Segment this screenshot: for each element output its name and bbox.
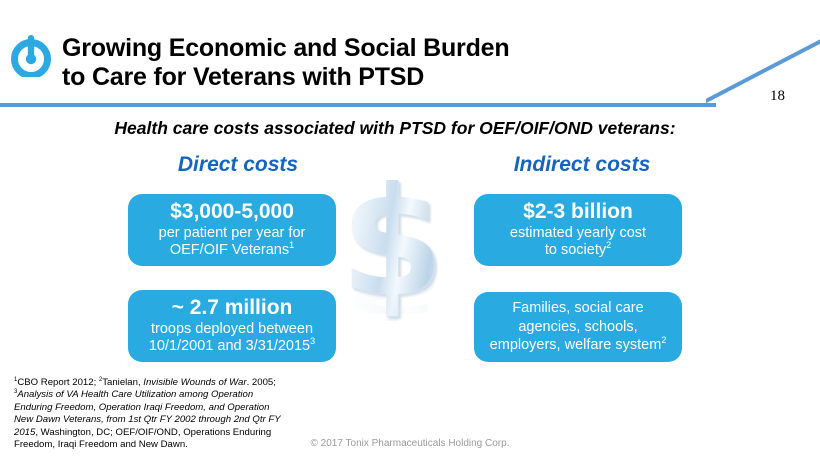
footnote-title-italic: Invisible Wounds of War bbox=[143, 377, 246, 388]
callout-line-2: to society2 bbox=[545, 242, 611, 260]
callout-line-1: troops deployed between bbox=[151, 321, 313, 339]
column-heading-direct-costs: Direct costs bbox=[118, 153, 358, 177]
slide-canvas: Growing Economic and Social Burden to Ca… bbox=[0, 0, 820, 458]
footnote-line-1: 1CBO Report 2012; 2Tanielan, Invisible W… bbox=[14, 377, 310, 389]
callout-line-2: 10/1/2001 and 3/31/20153 bbox=[149, 338, 315, 356]
callout-line-1: estimated yearly cost bbox=[510, 225, 646, 243]
copyright-notice: © 2017 Tonix Pharmaceuticals Holding Cor… bbox=[0, 438, 820, 449]
callout-line-1: Families, social care bbox=[512, 299, 643, 318]
callout-headline: ~ 2.7 million bbox=[172, 296, 293, 321]
footnote-text-8: , Washington, DC; OEF/OIF/OND, Operation… bbox=[35, 427, 271, 438]
footnote-text-2: Tanielan, bbox=[102, 377, 143, 388]
page-title: Growing Economic and Social Burden to Ca… bbox=[62, 34, 622, 91]
footnote-text-3: . 2005; bbox=[247, 377, 276, 388]
footnote-ref: 1 bbox=[289, 241, 294, 251]
callout-line-2: agencies, schools, bbox=[518, 318, 637, 337]
callout-line-3-text: employers, welfare system bbox=[490, 337, 662, 353]
callout-headline: $3,000-5,000 bbox=[170, 200, 294, 225]
callout-box-direct-cost-per-patient: $3,000-5,000 per patient per year for OE… bbox=[128, 194, 336, 266]
callout-box-troops-deployed: ~ 2.7 million troops deployed between 10… bbox=[128, 290, 336, 362]
callout-line-2-text: OEF/OIF Veterans bbox=[170, 242, 289, 258]
footnote-text-4: Analysis of VA Health Care Utilization a… bbox=[17, 389, 253, 400]
page-number: 18 bbox=[770, 88, 810, 105]
callout-line-2-text: to society bbox=[545, 242, 606, 258]
slide-subtitle: Health care costs associated with PTSD f… bbox=[0, 118, 790, 139]
footnote-line-3: Enduring Freedom, Operation Iraqi Freedo… bbox=[14, 402, 310, 414]
footnote-line-4: New Dawn Veterans, from 1st Qtr FY 2002 … bbox=[14, 414, 310, 426]
page-title-line-2: to Care for Veterans with PTSD bbox=[62, 63, 622, 92]
footnote-line-2: 3Analysis of VA Health Care Utilization … bbox=[14, 389, 310, 401]
callout-box-indirect-cost-to-society: $2-3 billion estimated yearly cost to so… bbox=[474, 194, 682, 266]
column-heading-indirect-costs: Indirect costs bbox=[462, 153, 702, 177]
callout-line-3: employers, welfare system2 bbox=[490, 336, 667, 355]
accent-rule-horizontal bbox=[0, 103, 716, 107]
footnote-text-5: Enduring Freedom, Operation Iraqi Freedo… bbox=[14, 402, 269, 413]
footnote-ref: 2 bbox=[606, 241, 611, 251]
dollar-sign-graphic: $ $ bbox=[332, 168, 452, 398]
callout-line-2-text: 10/1/2001 and 3/31/2015 bbox=[149, 338, 310, 354]
dollar-sign-reflection-icon: $ bbox=[332, 263, 452, 326]
footnote-text-1: CBO Report 2012; bbox=[17, 377, 99, 388]
footnote-text-7: 2015 bbox=[14, 427, 35, 438]
callout-line-1: per patient per year for bbox=[159, 225, 306, 243]
footnote-ref: 2 bbox=[661, 336, 666, 346]
footnote-text-6: New Dawn Veterans, from 1st Qtr FY 2002 … bbox=[14, 414, 281, 425]
page-title-line-1: Growing Economic and Social Burden bbox=[62, 34, 622, 63]
tonix-power-circle-logo-icon bbox=[10, 33, 52, 77]
callout-line-2: OEF/OIF Veterans1 bbox=[170, 242, 294, 260]
callout-box-affected-groups: Families, social care agencies, schools,… bbox=[474, 292, 682, 362]
callout-headline: $2-3 billion bbox=[523, 200, 633, 225]
footnote-ref: 3 bbox=[310, 337, 315, 347]
